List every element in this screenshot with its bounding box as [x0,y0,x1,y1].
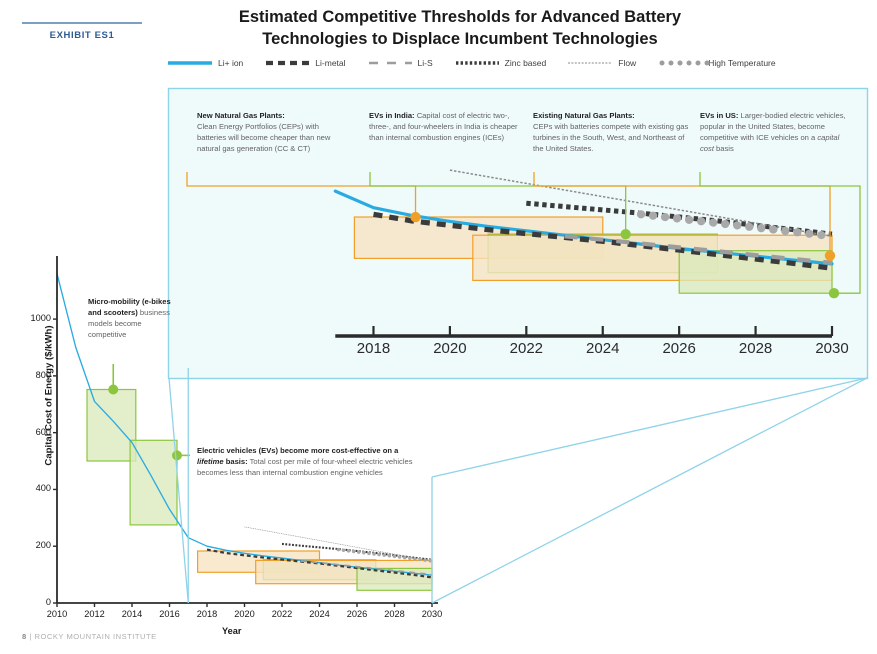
annotation-existing-natural-gas-plants: Existing Natural Gas Plants:CEPs with ba… [533,110,695,154]
inset-callout-connectors [169,368,867,603]
legend-item-flow: Flow [568,58,636,68]
inset-x-tick-2018: 2018 [343,340,403,357]
title-line-1: Estimated Competitive Thresholds for Adv… [160,6,760,28]
exhibit-label: EXHIBIT ES1 [22,30,142,41]
outer-y-tick-600: 600 [11,427,51,437]
inset-x-tick-2022: 2022 [496,340,556,357]
annotation-evs-in-us: EVs in US: Larger-bodied electric vehicl… [700,110,850,154]
outer-y-tick-0: 0 [11,597,51,607]
threshold-band-evs-in-us [357,568,432,590]
threshold-band-existing-natural-gas-plants [473,235,832,280]
legend-swatch-hairline-icon [568,58,612,68]
annotation-new-natural-gas-plants: New Natural Gas Plants:Clean Energy Port… [197,110,347,154]
outer-x-tick-2016: 2016 [152,609,188,619]
threshold-band-existing-natural-gas-plants [256,560,432,583]
outer-x-tick-2020: 2020 [227,609,263,619]
threshold-band-evs-in-india [263,560,376,580]
outer-x-tick-2030: 2030 [414,609,450,619]
legend-label: Li-S [418,58,433,68]
inset-series-li-ion [335,191,832,264]
annotation-micro-mobility: Micro-mobility (e-bikes and scooters) bu… [88,296,180,340]
outer-series-zinc-based [282,544,432,560]
annotation-connector-ev-lifetime [172,450,190,460]
title-line-2: Technologies to Displace Incumbent Techn… [160,28,760,50]
y-axis-title: Capital Cost of Energy ($/kWh) [44,301,55,491]
exhibit-tag: EXHIBIT ES1 [22,22,142,41]
inset-series-zinc-based [526,203,832,234]
inset-chart-group [187,170,860,336]
outer-series-high-temperature [338,550,432,561]
legend-swatch-dotted-round-icon [658,58,702,68]
inset-x-tick-2020: 2020 [420,340,480,357]
outer-y-tick-800: 800 [11,370,51,380]
legend-item-li-ion: Li+ ion [168,58,243,68]
outer-y-tick-400: 400 [11,483,51,493]
legend-item-zinc-based: Zinc based [455,58,547,68]
annotation-ev-lifetime: Electric vehicles (EVs) become more cost… [197,445,425,478]
threshold-band-new-natural-gas-plants [354,217,602,258]
inset-series-high-temperature [641,214,832,236]
threshold-band-micro-mobility [87,390,136,462]
outer-series-li-s [301,561,432,575]
inset-x-tick-2028: 2028 [726,340,786,357]
annotation-connector-micro-mobility [108,364,118,395]
legend-label: Li+ ion [218,58,243,68]
outer-x-tick-2028: 2028 [377,609,413,619]
annotation-body: CEPs with batteries compete with existin… [533,122,688,153]
legend-swatch-solid-icon [168,58,212,68]
outer-y-tick-200: 200 [11,540,51,550]
legend-label: High Temperature [708,58,775,68]
threshold-band-new-natural-gas-plants [198,551,320,572]
annotation-connector-new-natural-gas-plants [187,172,421,222]
inset-series-li-s [565,236,833,262]
annotation-title: New Natural Gas Plants: [197,111,285,120]
legend-item-li-s: Li-S [368,58,433,68]
inset-x-tick-2026: 2026 [649,340,709,357]
legend-item-li-metal: Li-metal [265,58,345,68]
outer-series-li-metal [207,550,432,578]
outer-x-tick-2010: 2010 [39,609,75,619]
threshold-band-evs-in-us [679,251,832,294]
inset-series-li-metal [374,214,833,268]
x-axis-title: Year [222,626,241,636]
annotation-connector-existing-natural-gas-plants [534,172,835,261]
annotation-connector-evs-in-india [370,172,631,239]
outer-series-flow [245,527,433,561]
outer-x-tick-2024: 2024 [302,609,338,619]
outer-y-tick-1000: 1000 [11,313,51,323]
legend-swatch-dashed-gray-icon [368,58,412,68]
legend-label: Li-metal [315,58,345,68]
legend-swatch-dashed-thick-icon [265,58,309,68]
outer-x-tick-2014: 2014 [114,609,150,619]
annotation-title: Existing Natural Gas Plants: [533,111,635,120]
legend-swatch-dotted-square-icon [455,58,499,68]
threshold-band-ev-lifetime-basis [130,440,177,525]
footer-separator: | [29,632,31,641]
outer-x-tick-2012: 2012 [77,609,113,619]
outer-x-tick-2022: 2022 [264,609,300,619]
outer-x-tick-2018: 2018 [189,609,225,619]
footer-org: ROCKY MOUNTAIN INSTITUTE [34,632,156,641]
inset-series-flow [450,170,832,236]
annotation-title: EVs in India: [369,111,415,120]
annotation-title: EVs in US: [700,111,738,120]
legend-item-high-temperature: High Temperature [658,58,775,68]
threshold-band-evs-in-india [488,234,717,273]
exhibit-page: EXHIBIT ES1 Estimated Competitive Thresh… [0,0,877,654]
page-title: Estimated Competitive Thresholds for Adv… [160,6,760,51]
legend-label: Flow [618,58,636,68]
annotation-connector-evs-in-us [700,172,860,298]
chart-legend: Li+ ionLi-metalLi-SZinc basedFlowHigh Te… [168,53,868,73]
footer: 8 | ROCKY MOUNTAIN INSTITUTE [22,632,157,641]
annotation-evs-in-india: EVs in India: Capital cost of electric t… [369,110,519,143]
inset-x-tick-2030: 2030 [802,340,862,357]
outer-x-tick-2026: 2026 [339,609,375,619]
footer-page: 8 [22,632,27,641]
inset-x-tick-2024: 2024 [573,340,633,357]
annotation-body: Clean Energy Portfolios (CEPs) with batt… [197,122,330,153]
legend-label: Zinc based [505,58,547,68]
